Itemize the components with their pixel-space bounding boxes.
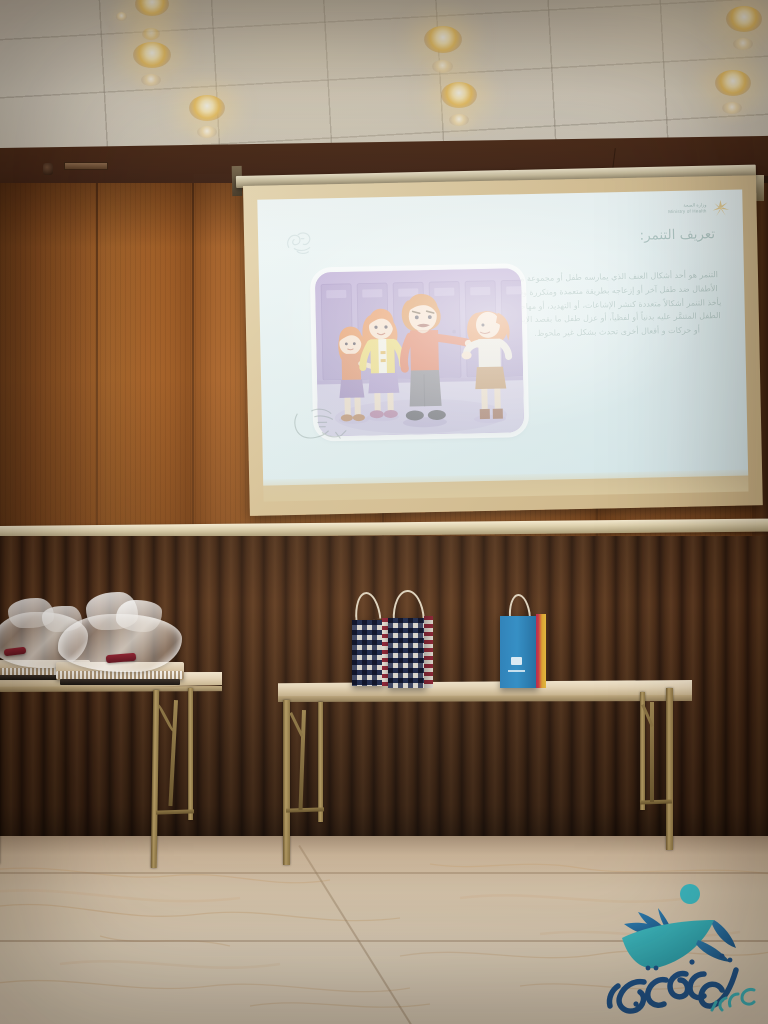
slide-surface: وزارة الصحة Ministry of Health	[257, 190, 748, 486]
wall-vent-strip	[64, 162, 108, 170]
moh-logo-line2: Ministry of Health	[668, 208, 706, 215]
wall-sensor-icon	[43, 163, 53, 175]
checkered-gift-bag	[352, 620, 384, 686]
blue-gift-bag-logo	[511, 657, 522, 665]
left-table-leg-back-right	[188, 688, 193, 820]
downlight-icon	[141, 74, 161, 86]
downlight-icon	[733, 38, 753, 50]
gift-tray-base	[60, 679, 180, 685]
blue-gift-bag-side	[536, 614, 546, 688]
gift-bag-side-shadow	[424, 616, 433, 688]
downlight-icon	[424, 26, 462, 53]
downlight-icon	[432, 60, 453, 73]
suspended-tile-ceiling	[0, 0, 768, 158]
marble-floor	[0, 836, 768, 1024]
downlight-icon	[189, 95, 225, 121]
right-table-leg-front-left	[283, 700, 290, 865]
slide-title: تعريف التنمر:	[639, 226, 715, 244]
blue-gift-bag	[500, 616, 538, 688]
gift-tray-rim	[56, 671, 184, 679]
presenter-signature	[290, 400, 357, 445]
presentation-hall-photo: وزارة الصحة Ministry of Health	[0, 0, 768, 1024]
right-table-leg-front-right	[666, 688, 673, 850]
moh-logo-text: وزارة الصحة Ministry of Health	[668, 202, 707, 215]
right-table-brace-right	[650, 702, 654, 802]
floor-sheen	[0, 836, 768, 1024]
blue-gift-bag-logo-text	[508, 670, 525, 672]
ministry-of-health-logo: وزارة الصحة Ministry of Health	[668, 198, 731, 219]
ceiling-shading	[0, 0, 768, 158]
slide-calligraphy-watermark	[280, 222, 323, 259]
downlight-icon	[197, 126, 217, 138]
downlight-icon	[715, 70, 751, 96]
downlight-icon	[142, 28, 160, 40]
cellophane-tip	[116, 600, 162, 632]
slide-body-text: التنمر هو أحد أشكال العنف الذي يمارسه طف…	[510, 268, 723, 341]
downlight-icon	[133, 42, 171, 68]
downlight-icon	[722, 102, 742, 114]
right-table-leg-back-left	[318, 702, 323, 822]
smoke-detector-icon	[116, 12, 127, 21]
downlight-icon	[449, 114, 469, 126]
downlight-icon	[726, 6, 762, 32]
right-table-edge	[278, 695, 692, 702]
palm-star-icon	[710, 198, 730, 218]
downlight-icon	[441, 82, 477, 108]
projector-screen: وزارة الصحة Ministry of Health	[243, 175, 763, 516]
checkered-gift-bag	[388, 618, 426, 688]
